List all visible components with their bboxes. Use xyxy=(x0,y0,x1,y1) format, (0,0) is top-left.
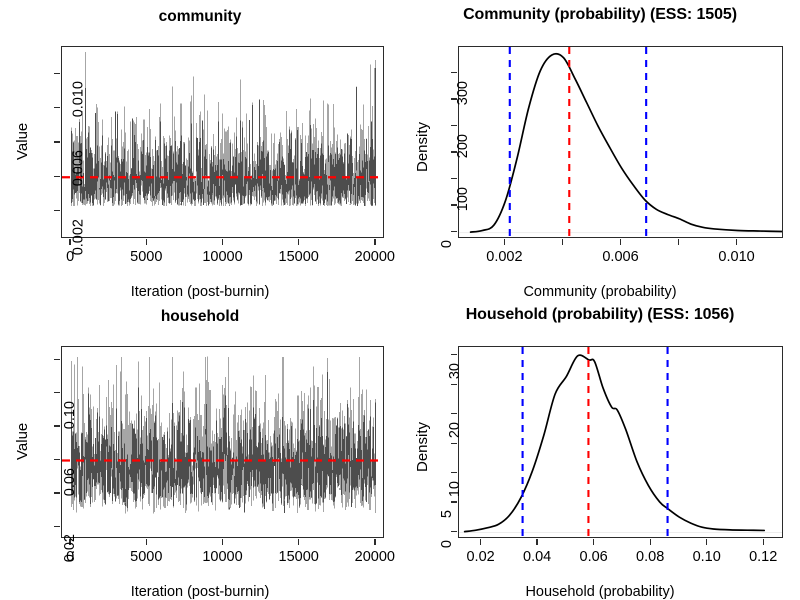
y-axis-title: Density xyxy=(414,122,431,172)
x-tick-label: 0.06 xyxy=(580,549,608,565)
y-tick-mark xyxy=(451,204,457,205)
traceplot-canvas xyxy=(62,347,384,538)
x-tick-mark xyxy=(504,239,505,245)
x-tick-label: 20000 xyxy=(355,249,395,265)
y-tick-mark xyxy=(451,178,457,179)
y-tick-mark xyxy=(54,526,60,527)
x-tick-mark xyxy=(593,539,594,545)
y-tick-mark xyxy=(451,151,457,152)
panel-title: community xyxy=(0,8,400,26)
y-tick-mark xyxy=(451,501,457,502)
y-tick-mark xyxy=(54,107,60,108)
x-tick-mark xyxy=(650,539,651,545)
x-tick-label: 15000 xyxy=(279,249,319,265)
x-axis-title: Iteration (post-burnin) xyxy=(0,284,400,300)
mcmc-diagnostics-figure: community 050001000015000200000.0020.006… xyxy=(0,0,800,600)
x-tick-mark xyxy=(298,539,299,545)
y-axis-title: Density xyxy=(414,422,431,472)
x-tick-mark xyxy=(480,539,481,545)
x-tick-label: 10000 xyxy=(202,549,242,565)
x-tick-label: 0.04 xyxy=(523,549,551,565)
x-tick-label: 15000 xyxy=(279,549,319,565)
y-tick-mark xyxy=(451,98,457,99)
density-canvas xyxy=(459,347,783,538)
y-tick-mark xyxy=(54,392,60,393)
y-tick-label: 5 xyxy=(439,510,455,518)
y-tick-mark xyxy=(451,231,457,232)
x-tick-mark xyxy=(678,239,679,245)
x-tick-label: 10000 xyxy=(202,249,242,265)
x-tick-label: 0.010 xyxy=(718,249,754,265)
panel-title: Household (probability) (ESS: 1056) xyxy=(400,306,800,324)
x-tick-mark xyxy=(763,539,764,545)
x-axis-title: Community (probability) xyxy=(400,284,800,300)
y-tick-label: 0 xyxy=(439,540,455,548)
y-tick-mark xyxy=(451,72,457,73)
y-tick-mark xyxy=(451,443,457,444)
x-tick-label: 0.02 xyxy=(466,549,494,565)
y-tick-mark xyxy=(54,210,60,211)
y-tick-mark xyxy=(54,141,60,142)
y-tick-mark xyxy=(451,531,457,532)
x-tick-label: 0 xyxy=(66,249,74,265)
x-tick-mark xyxy=(298,239,299,245)
y-axis-title: Value xyxy=(14,423,31,460)
y-axis-title: Value xyxy=(14,123,31,160)
panel-household-traceplot: household 050001000015000200000.020.060.… xyxy=(0,300,400,600)
x-tick-mark xyxy=(736,239,737,245)
y-tick-mark xyxy=(451,472,457,473)
x-tick-label: 20000 xyxy=(355,549,395,565)
y-tick-mark xyxy=(54,459,60,460)
y-tick-mark xyxy=(54,359,60,360)
x-tick-label: 0.10 xyxy=(693,549,721,565)
plot-area xyxy=(61,46,384,238)
x-tick-mark xyxy=(222,239,223,245)
x-tick-label: 0.12 xyxy=(749,549,777,565)
plot-area xyxy=(61,346,384,538)
y-tick-mark xyxy=(54,492,60,493)
y-tick-mark xyxy=(451,384,457,385)
plot-area xyxy=(458,346,783,538)
y-tick-mark xyxy=(451,125,457,126)
x-tick-label: 5000 xyxy=(130,249,162,265)
x-tick-mark xyxy=(706,539,707,545)
y-tick-mark xyxy=(54,73,60,74)
traceplot-canvas xyxy=(62,47,384,238)
x-tick-mark xyxy=(69,539,70,545)
panel-community-density: Community (probability) (ESS: 1505) 0.00… xyxy=(400,0,800,300)
plot-area xyxy=(458,46,783,238)
y-tick-label: 0.02 xyxy=(62,534,78,562)
panel-community-traceplot: community 050001000015000200000.0020.006… xyxy=(0,0,400,300)
x-tick-label: 0.006 xyxy=(602,249,638,265)
x-axis-title: Household (probability) xyxy=(400,584,800,600)
panel-title: Community (probability) (ESS: 1505) xyxy=(400,6,800,24)
x-tick-mark xyxy=(222,539,223,545)
y-tick-mark xyxy=(54,176,60,177)
x-tick-label: 0.08 xyxy=(636,549,664,565)
panel-household-density: Household (probability) (ESS: 1056) 0.02… xyxy=(400,300,800,600)
y-tick-label: 0 xyxy=(439,240,455,248)
x-tick-mark xyxy=(562,239,563,245)
x-tick-mark xyxy=(146,539,147,545)
x-tick-mark xyxy=(146,239,147,245)
x-tick-mark xyxy=(620,239,621,245)
x-axis-title: Iteration (post-burnin) xyxy=(0,584,400,600)
x-tick-label: 5000 xyxy=(130,549,162,565)
x-tick-mark xyxy=(536,539,537,545)
x-tick-mark xyxy=(69,239,70,245)
x-tick-mark xyxy=(374,539,375,545)
x-tick-mark xyxy=(374,239,375,245)
y-tick-mark xyxy=(451,413,457,414)
panel-title: household xyxy=(0,308,400,326)
x-tick-label: 0.002 xyxy=(486,249,522,265)
x-tick-label: 0 xyxy=(66,549,74,565)
y-tick-mark xyxy=(451,354,457,355)
density-canvas xyxy=(459,47,783,238)
y-tick-mark xyxy=(54,425,60,426)
